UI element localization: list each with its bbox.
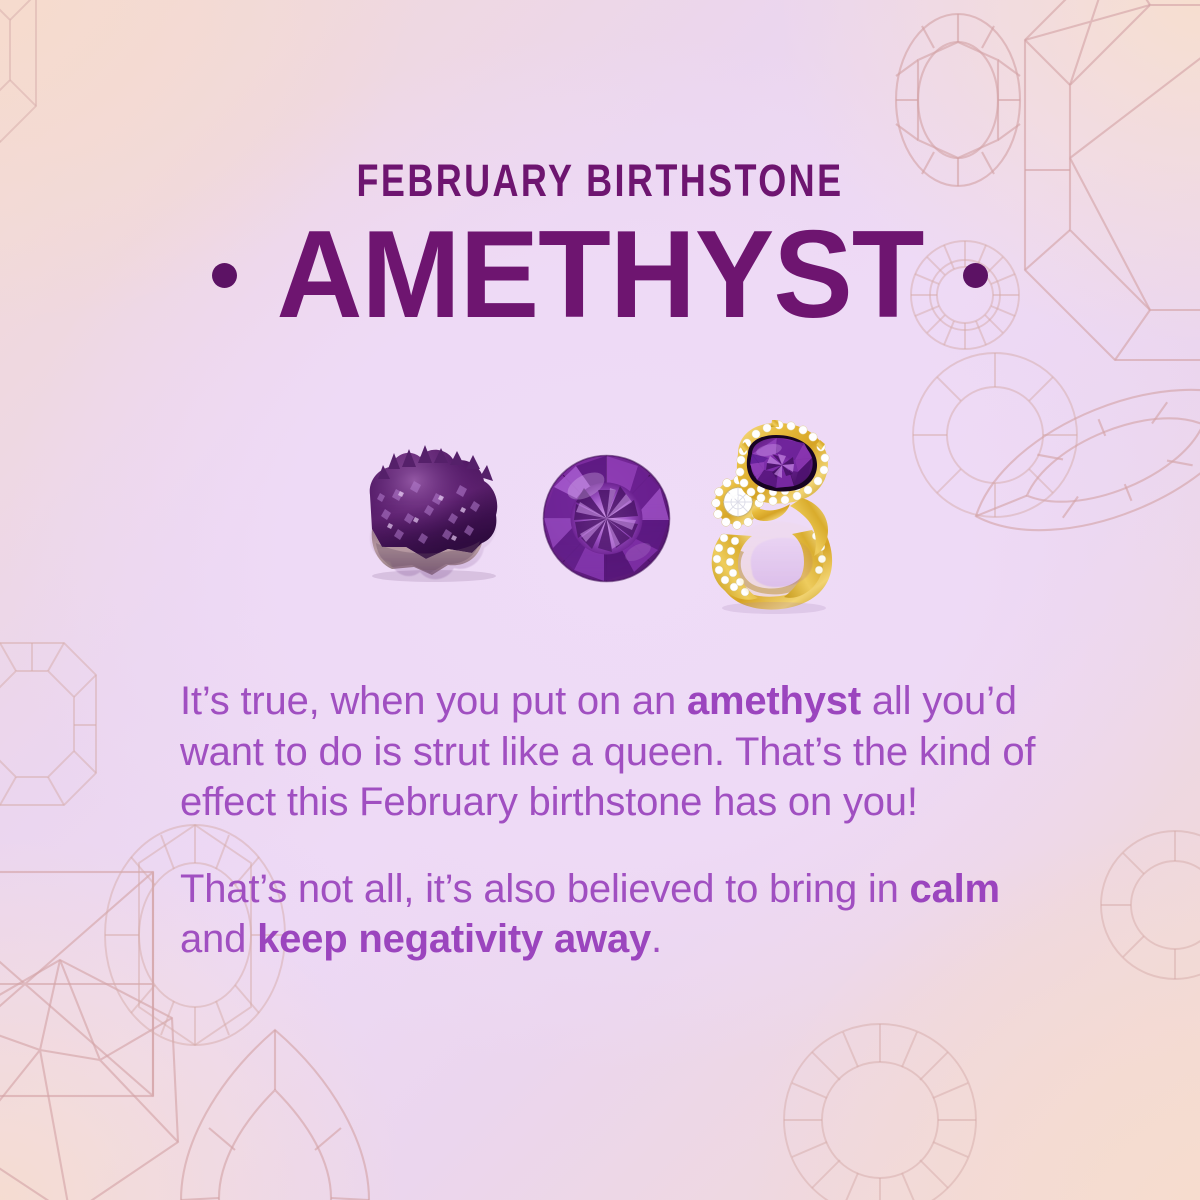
amethyst-gold-ring <box>694 410 854 615</box>
page-title: AMETHYST <box>276 217 923 333</box>
eyebrow-text: FEBRUARY BIRTHSTONE <box>120 158 1080 203</box>
title-row: AMETHYST <box>0 217 1200 333</box>
ring-reflection <box>694 439 854 615</box>
geode-reflection <box>352 463 512 586</box>
deco-round-gem-bottom-right <box>784 1024 976 1200</box>
amethyst-geode-cluster <box>352 443 512 586</box>
round-gem-reflection <box>542 472 671 583</box>
paragraph-2: That’s not all, it’s also believed to br… <box>180 864 1060 965</box>
deco-pentagon-gem-bottom-left <box>0 960 178 1200</box>
paragraph-1: It’s true, when you put on an amethyst a… <box>180 676 1060 828</box>
deco-round-gem-mid-right <box>1101 831 1200 979</box>
deco-pear-gem-bottom-center <box>181 1030 369 1200</box>
p1-bold-amethyst: amethyst <box>687 679 861 723</box>
p2-bold-calm: calm <box>910 867 1000 911</box>
p1-text-1: It’s true, when you put on an <box>180 679 687 723</box>
deco-princess-cut-gem-left <box>0 872 153 1096</box>
p2-bold-keep-negativity-away: keep negativity away <box>257 917 651 961</box>
p2-text-3: . <box>651 917 662 961</box>
title-dot-left-icon <box>212 263 237 288</box>
poster-header: FEBRUARY BIRTHSTONE AMETHYST <box>0 0 1200 333</box>
gemstone-row <box>0 400 1200 670</box>
body-copy: It’s true, when you put on an amethyst a… <box>180 676 1060 965</box>
title-dot-right-icon <box>963 263 988 288</box>
p2-text-1: That’s not all, it’s also believed to br… <box>180 867 910 911</box>
p2-text-2: and <box>180 917 257 961</box>
round-cut-amethyst <box>542 454 671 583</box>
birthstone-poster: FEBRUARY BIRTHSTONE AMETHYST <box>0 0 1200 1200</box>
